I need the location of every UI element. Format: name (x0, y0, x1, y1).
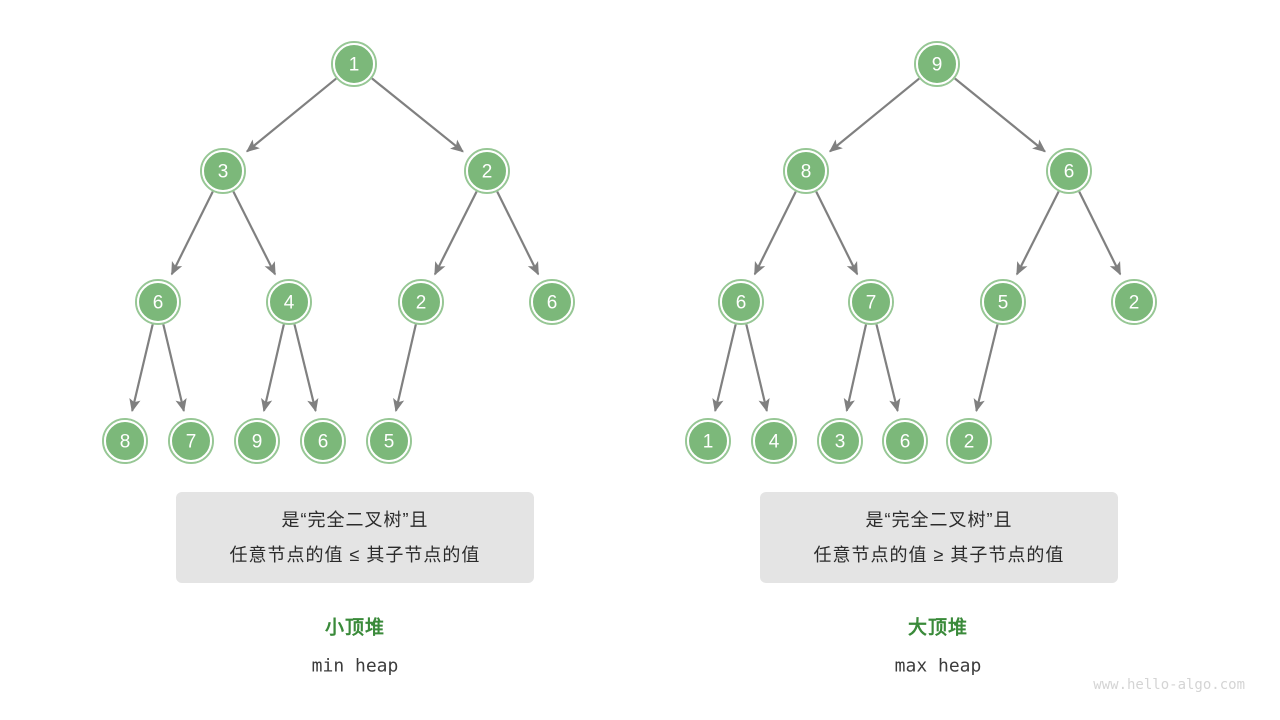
tree-edge (755, 192, 796, 275)
node-value: 9 (932, 55, 943, 76)
tree-edge (233, 192, 275, 275)
panel-max-heap: 986675214362是“完全二叉树”且任意节点的值 ≥ 其子节点的值大顶堆m… (686, 42, 1156, 677)
tree-edge (816, 192, 857, 275)
tree-node[interactable]: 8 (784, 149, 828, 193)
tree-edge (847, 324, 866, 410)
node-value: 6 (1064, 162, 1075, 183)
tree-edge (294, 324, 315, 411)
panel-title-cn: 小顶堆 (325, 616, 385, 639)
tree-node[interactable]: 3 (201, 149, 245, 193)
caption-line-2: 任意节点的值 ≤ 其子节点的值 (230, 545, 481, 565)
node-value: 2 (416, 293, 427, 314)
tree-node[interactable]: 6 (136, 280, 180, 324)
node-value: 7 (866, 293, 877, 314)
caption-line-2: 任意节点的值 ≥ 其子节点的值 (814, 545, 1065, 565)
tree-node[interactable]: 2 (1112, 280, 1156, 324)
nodes-group: 132642687965 (103, 42, 574, 463)
node-value: 6 (736, 293, 747, 314)
node-value: 4 (769, 432, 780, 453)
tree-edge (172, 192, 213, 275)
node-value: 3 (218, 162, 229, 183)
tree-edge (976, 324, 997, 411)
tree-node[interactable]: 9 (235, 419, 279, 463)
node-value: 6 (900, 432, 911, 453)
tree-edge (1017, 192, 1059, 275)
tree-node[interactable]: 7 (849, 280, 893, 324)
tree-node[interactable]: 7 (169, 419, 213, 463)
node-value: 5 (998, 293, 1009, 314)
tree-edge (247, 79, 336, 152)
watermark-hello-algo: www.hello-algo.com (1093, 677, 1245, 693)
tree-edge (497, 192, 538, 275)
tree-node[interactable]: 2 (399, 280, 443, 324)
caption-box (760, 492, 1118, 583)
tree-edge (876, 324, 897, 411)
tree-node[interactable]: 4 (752, 419, 796, 463)
tree-edge (163, 324, 184, 410)
tree-node[interactable]: 4 (267, 280, 311, 324)
node-value: 6 (318, 432, 329, 453)
node-value: 1 (349, 55, 360, 76)
tree-edge (746, 324, 767, 410)
caption-box (176, 492, 534, 583)
tree-edge (1079, 192, 1120, 275)
node-value: 3 (835, 432, 846, 453)
edges-group (132, 78, 538, 410)
panel-title-cn: 大顶堆 (908, 616, 968, 639)
tree-edge (830, 79, 919, 152)
tree-node[interactable]: 6 (301, 419, 345, 463)
tree-node[interactable]: 5 (981, 280, 1025, 324)
node-value: 8 (801, 162, 812, 183)
caption-line-1: 是“完全二叉树”且 (282, 510, 429, 530)
tree-edge (396, 324, 416, 410)
heap-comparison-diagram: 132642687965是“完全二叉树”且任意节点的值 ≤ 其子节点的值小顶堆m… (0, 0, 1280, 720)
node-value: 8 (120, 432, 131, 453)
edges-group (715, 78, 1120, 410)
tree-node[interactable]: 2 (465, 149, 509, 193)
node-value: 2 (964, 432, 975, 453)
tree-node[interactable]: 3 (818, 419, 862, 463)
tree-node[interactable]: 6 (530, 280, 574, 324)
node-value: 6 (153, 293, 164, 314)
tree-edge (955, 78, 1045, 151)
tree-node[interactable]: 5 (367, 419, 411, 463)
tree-node[interactable]: 6 (1047, 149, 1091, 193)
node-value: 1 (703, 432, 714, 453)
tree-node[interactable]: 6 (883, 419, 927, 463)
node-value: 9 (252, 432, 263, 453)
panel-min-heap: 132642687965是“完全二叉树”且任意节点的值 ≤ 其子节点的值小顶堆m… (103, 42, 574, 677)
node-value: 6 (547, 293, 558, 314)
node-value: 2 (1129, 293, 1140, 314)
node-value: 2 (482, 162, 493, 183)
panel-title-en: min heap (312, 656, 399, 677)
tree-node[interactable]: 9 (915, 42, 959, 86)
tree-edge (715, 324, 736, 410)
panel-title-en: max heap (895, 656, 982, 677)
tree-edge (132, 324, 153, 410)
tree-node[interactable]: 1 (686, 419, 730, 463)
tree-node[interactable]: 8 (103, 419, 147, 463)
node-value: 5 (384, 432, 395, 453)
node-value: 7 (186, 432, 197, 453)
tree-edge (372, 78, 463, 151)
nodes-group: 986675214362 (686, 42, 1156, 463)
tree-node[interactable]: 1 (332, 42, 376, 86)
tree-edge (264, 324, 284, 410)
tree-node[interactable]: 6 (719, 280, 763, 324)
tree-node[interactable]: 2 (947, 419, 991, 463)
caption-line-1: 是“完全二叉树”且 (866, 510, 1013, 530)
tree-edge (435, 192, 477, 275)
node-value: 4 (284, 293, 295, 314)
